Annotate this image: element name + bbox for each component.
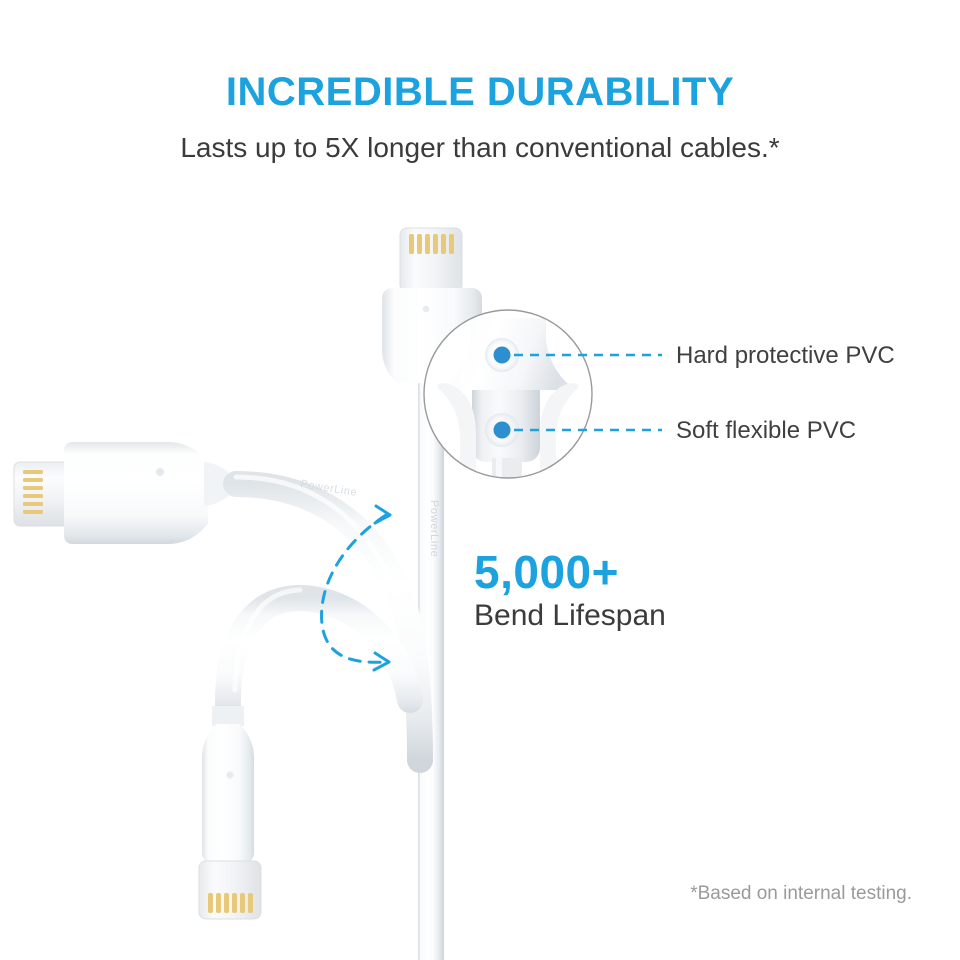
lightning-pins-left bbox=[23, 470, 43, 514]
bend-arrow bbox=[322, 506, 390, 670]
bend-arrow-head-bottom bbox=[374, 653, 389, 670]
cable-upper-curve: PowerLine bbox=[236, 477, 420, 760]
connector-top bbox=[382, 228, 482, 383]
page-title: INCREDIBLE DURABILITY bbox=[0, 72, 960, 112]
callout-dot-hard bbox=[494, 347, 511, 364]
bend-arrow-head-top bbox=[375, 506, 390, 523]
cable-lower-loop bbox=[228, 590, 410, 718]
magnifier-detail bbox=[424, 310, 592, 484]
vertical-cable: PowerLine bbox=[418, 300, 444, 960]
footnote-text: *Based on internal testing. bbox=[690, 884, 912, 903]
callout-label-soft-pvc: Soft flexible PVC bbox=[676, 419, 856, 443]
bend-lifespan-label: Bend Lifespan bbox=[474, 601, 666, 631]
callout-leaders bbox=[494, 347, 663, 439]
page-subtitle: Lasts up to 5X longer than conventional … bbox=[0, 133, 960, 164]
connector-bottom bbox=[199, 706, 261, 919]
connector-left bbox=[14, 442, 238, 544]
bend-lifespan-value: 5,000+ bbox=[474, 549, 619, 595]
cable-brand-text-curve: PowerLine bbox=[300, 478, 359, 499]
lightning-pins-bottom bbox=[208, 893, 253, 913]
magnifier-circle-outline bbox=[424, 310, 592, 478]
callout-label-hard-pvc: Hard protective PVC bbox=[676, 344, 895, 368]
lightning-pins-top bbox=[409, 234, 454, 254]
product-feature-graphic: PowerLine bbox=[0, 0, 960, 960]
cable-brand-text-vertical: PowerLine bbox=[428, 500, 440, 557]
callout-dot-soft bbox=[494, 422, 511, 439]
